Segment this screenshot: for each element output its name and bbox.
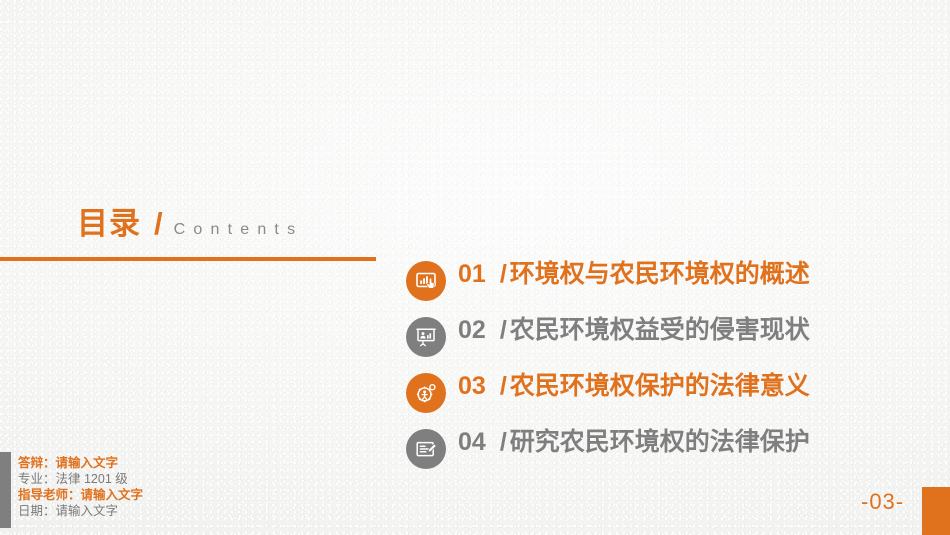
- toc-text-03: 03/农民环境权保护的法律意义: [458, 370, 878, 403]
- toc-separator-03: /: [500, 372, 507, 400]
- left-accent-bar: [0, 452, 11, 528]
- toc-text-02: 02/农民环境权益受的侵害现状: [458, 314, 878, 347]
- toc-text-04: 04/研究农民环境权的法律保护: [458, 426, 878, 459]
- info-line-date: 日期：请输入文字: [18, 503, 248, 519]
- document-pen-icon: [406, 429, 446, 469]
- toc-text-01: 01/环境权与农民环境权的概述: [458, 258, 878, 291]
- page-title-en: Contents: [174, 222, 304, 238]
- toc-item-02[interactable]: 02/农民环境权益受的侵害现状: [406, 314, 876, 370]
- toc-separator-02: /: [500, 316, 507, 344]
- toc-number-03: 03: [458, 372, 486, 400]
- page-title-cn: 目录: [77, 208, 141, 239]
- page-number: -03-: [861, 489, 904, 515]
- info-line-advisor: 指导老师：请输入文字: [18, 487, 248, 503]
- section-heading: 目录 / Contents: [0, 208, 376, 262]
- toc-number-01: 01: [458, 260, 486, 288]
- tablet-chart-touch-icon: [406, 261, 446, 301]
- toc-item-01[interactable]: 01/环境权与农民环境权的概述: [406, 258, 876, 314]
- presenter-info-block: 答辩：请输入文字 专业：法律 1201 级 指导老师：请输入文字 日期：请输入文…: [18, 455, 248, 519]
- toc-number-02: 02: [458, 316, 486, 344]
- info-line-defense: 答辩：请输入文字: [18, 455, 248, 471]
- gear-person-icon: [406, 373, 446, 413]
- title-slash: /: [154, 208, 163, 239]
- toc-item-03[interactable]: 03/农民环境权保护的法律意义: [406, 370, 876, 426]
- info-line-major: 专业：法律 1201 级: [18, 471, 248, 487]
- presentation-board-icon: [406, 317, 446, 357]
- toc-label-02: 农民环境权益受的侵害现状: [510, 316, 810, 344]
- toc-label-01: 环境权与农民环境权的概述: [510, 260, 810, 288]
- toc-number-04: 04: [458, 428, 486, 456]
- toc-label-03: 农民环境权保护的法律意义: [510, 372, 810, 400]
- heading-underline: [0, 257, 376, 261]
- contents-list: 01/环境权与农民环境权的概述 02/农民环境权益受的侵害现状: [406, 258, 876, 482]
- toc-label-04: 研究农民环境权的法律保护: [510, 428, 810, 456]
- toc-separator-01: /: [500, 260, 507, 288]
- slide-canvas: 目录 / Contents 01/环境权与农民环境权的概述: [0, 0, 950, 535]
- toc-item-04[interactable]: 04/研究农民环境权的法律保护: [406, 426, 876, 482]
- right-accent-bar: [922, 487, 950, 535]
- toc-separator-04: /: [500, 428, 507, 456]
- heading-row: 目录 / Contents: [77, 208, 303, 239]
